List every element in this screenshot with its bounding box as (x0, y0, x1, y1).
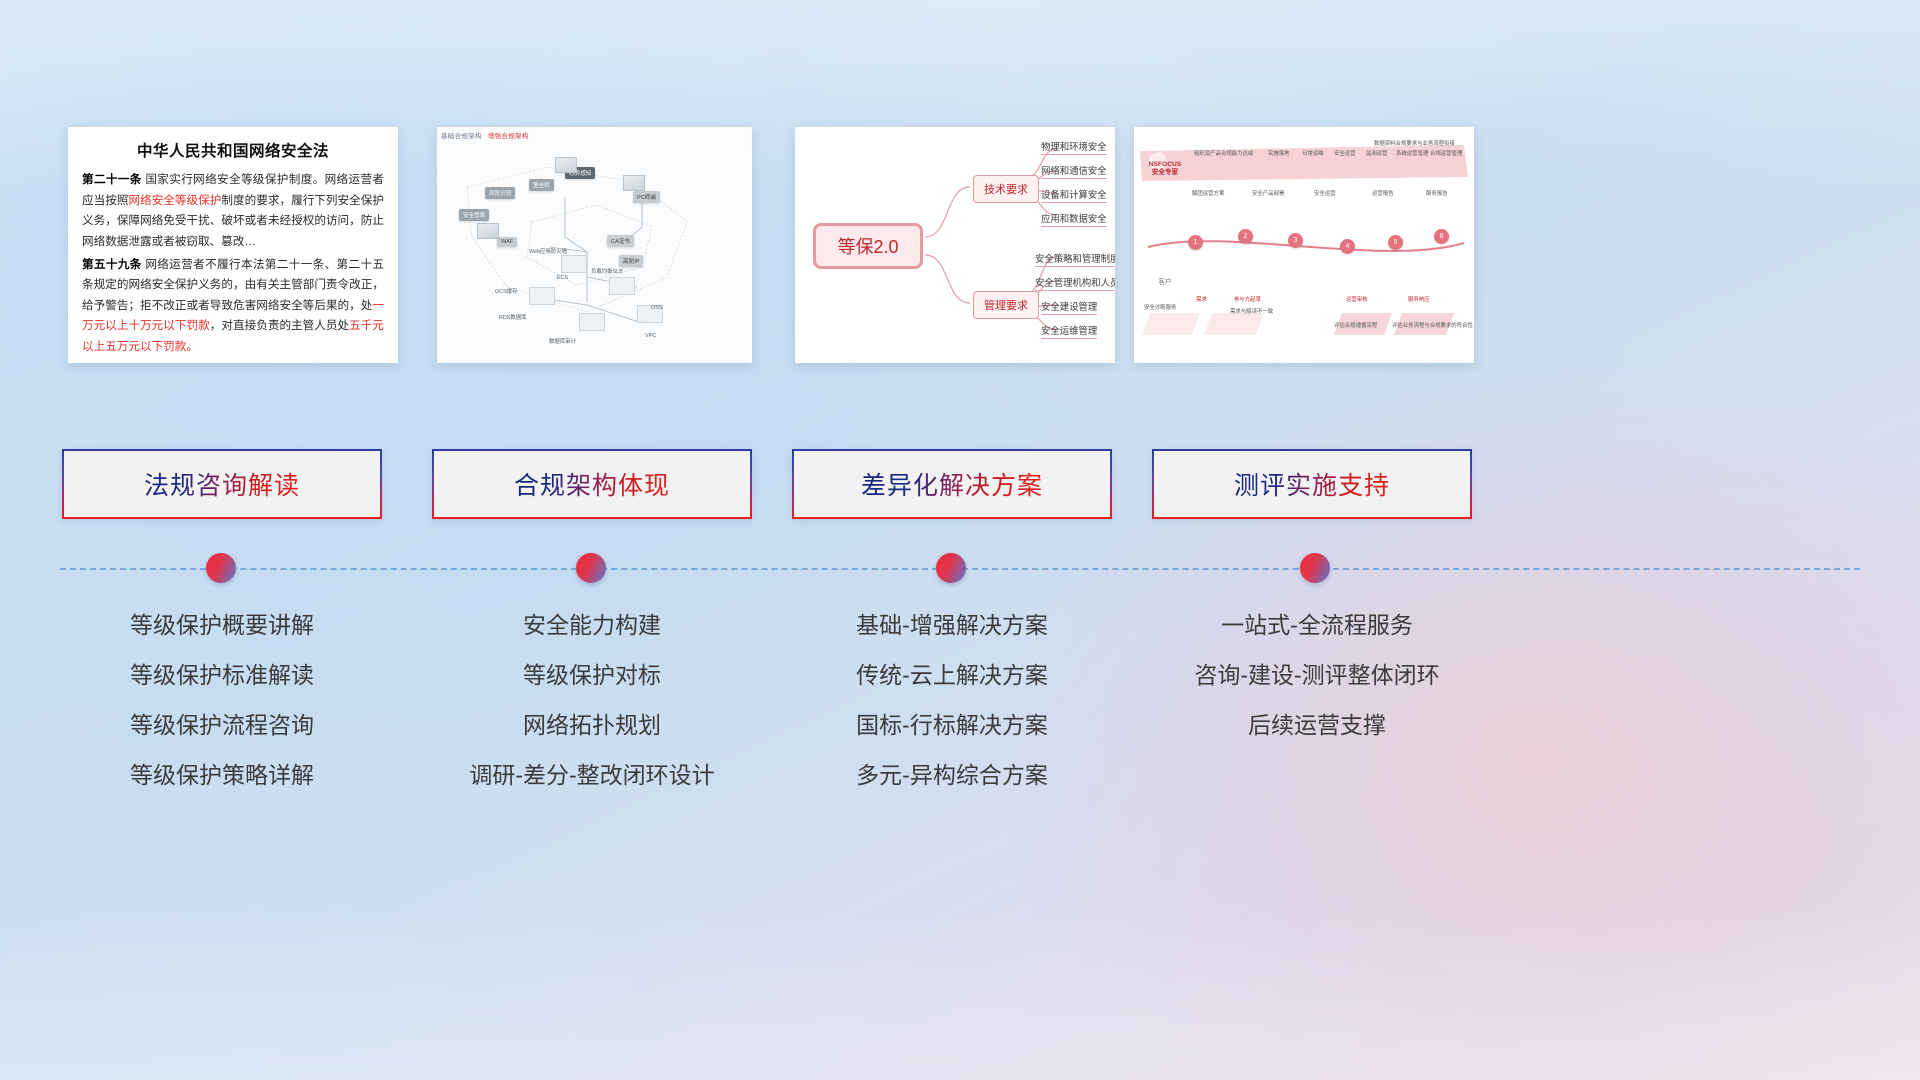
arch-icon-node-vpc (579, 313, 605, 331)
arch-icon-node-slb (609, 277, 635, 295)
list-item: 调研-差分-整改闭环设计 (432, 750, 752, 800)
timeline-dot-1[interactable] (206, 553, 236, 583)
mindmap-leaf-mgmt-3: 安全运维管理 (1041, 323, 1097, 339)
roadmap-bottom-tag-2: 参与方起草 (1234, 295, 1261, 303)
timeline-dot-4[interactable] (1300, 553, 1330, 583)
list-item: 国标-行标解决方案 (792, 700, 1112, 750)
roadmap-top-label-5: 系统运营管理 (1396, 149, 1428, 157)
list-item: 一站式-全流程服务 (1152, 600, 1482, 650)
law-document-body: 中华人民共和国网络安全法 第二十一条 国家实行网络安全等级保护制度。网络运营者应… (68, 127, 398, 363)
list-item: 咨询-建设-测评整体闭环 (1152, 650, 1482, 700)
mindmap-canvas: 等保2.0 技术要求 管理要求 物理和环境安全 网络和通信安全 设备和计算安全 … (795, 127, 1115, 363)
roadmap-bottom-tag-5: 评估合规遵循流程 (1334, 321, 1377, 329)
mindmap-leaf-tech-1: 网络和通信安全 (1041, 163, 1107, 179)
detail-list-2: 安全能力构建 等级保护对标 网络拓扑规划 调研-差分-整改闭环设计 (432, 600, 752, 800)
mindmap-branch-management: 管理要求 (973, 291, 1039, 319)
arch-label-ecs: ECS (557, 275, 568, 281)
category-button-label-4: 测评实施支持 (1234, 466, 1390, 502)
mindmap-leaf-mgmt-1: 安全管理机构和人员 (1035, 275, 1115, 291)
list-item: 等级保护策略详解 (62, 750, 382, 800)
mindmap-leaf-tech-2: 设备和计算安全 (1041, 187, 1107, 203)
law-title: 中华人民共和国网络安全法 (82, 139, 384, 161)
roadmap-persona-customer: 客户 (1142, 279, 1188, 287)
list-item: 等级保护概要讲解 (62, 600, 382, 650)
roadmap-top-label-2: 日常运维 (1302, 149, 1324, 157)
arch-node-risk-identification: 风险识别 (485, 187, 515, 199)
category-button-label-1: 法规咨询解读 (144, 466, 300, 502)
list-item: 网络拓扑规划 (432, 700, 752, 750)
law-paragraph-59: 第五十九条 网络运营者不履行本法第二十一条、第二十五条规定的网络安全保护义务的，… (82, 255, 384, 358)
list-item: 等级保护对标 (432, 650, 752, 700)
preview-cards-row: 中华人民共和国网络安全法 第二十一条 国家实行网络安全等级保护制度。网络运营者应… (0, 127, 1920, 367)
timeline-dot-3[interactable] (936, 553, 966, 583)
arch-label-vpc: VPC (645, 333, 656, 339)
card-law-document[interactable]: 中华人民共和国网络安全法 第二十一条 国家实行网络安全等级保护制度。网络运营者应… (68, 127, 398, 363)
roadmap-brand-name: NSFOCUS (1149, 161, 1181, 168)
arch-label-ocs: OCS缓存 (495, 287, 517, 295)
detail-list-1: 等级保护概要讲解 等级保护标准解读 等级保护流程咨询 等级保护策略详解 (62, 600, 382, 800)
roadmap-brand: NSFOCUS 安全专家 (1142, 161, 1188, 177)
mindmap-root-node: 等保2.0 (813, 223, 923, 269)
arch-node-security-butler: 安全管家 (459, 209, 489, 221)
roadmap-bottom-tag-7: 评估业务流程与合规要求的符合性 (1392, 321, 1473, 329)
category-button-differentiated-solution[interactable]: 差异化解决方案 (792, 449, 1112, 519)
law-highlight-21: 网络安全等级保护 (128, 194, 221, 207)
roadmap-top-label-3: 安全运营 (1334, 149, 1356, 157)
arch-icon-node-ecs (561, 255, 587, 273)
roadmap-stage-1: 安全产品部署 (1252, 189, 1284, 197)
arch-label-waf-full: Web应用防火墙 (529, 247, 567, 255)
law-article-number-21: 第二十一条 (82, 173, 142, 186)
mindmap-leaf-mgmt-2: 安全建设管理 (1041, 299, 1097, 315)
arch-label-db-audit: 数据库审计 (549, 337, 576, 345)
roadmap-brand-sub: 安全专家 (1152, 169, 1178, 176)
mindmap-leaf-tech-3: 应用和数据安全 (1041, 211, 1107, 227)
arch-node-pc-terminal: PC终端 (633, 191, 660, 203)
roadmap-step-4: 4 (1340, 239, 1355, 254)
roadmap-bottom-tag-4: 运营审核 (1346, 295, 1368, 303)
roadmap-step-6: 6 (1434, 229, 1449, 244)
arch-node-waf: WAF (497, 237, 517, 247)
arch-node-ca-cert: CA证书 (607, 235, 634, 247)
list-item: 多元-异构综合方案 (792, 750, 1112, 800)
arch-icon-server-3 (477, 223, 499, 239)
roadmap-top-label-0: 组织及产品合规能力达成 (1194, 149, 1253, 157)
arch-icon-server-1 (555, 157, 577, 173)
arch-icon-node-rds (529, 287, 555, 305)
detail-list-4: 一站式-全流程服务 咨询-建设-测评整体闭环 后续运营支撑 (1152, 600, 1482, 750)
architecture-canvas: 基础合规架构增强合规架构 (437, 127, 752, 363)
roadmap-stage-2: 安全运营 (1314, 189, 1336, 197)
mindmap-leaf-mgmt-0: 安全策略和管理制度 (1035, 251, 1115, 267)
list-item: 传统-云上解决方案 (792, 650, 1112, 700)
detail-list-3: 基础-增强解决方案 传统-云上解决方案 国标-行标解决方案 多元-异构综合方案 (792, 600, 1112, 800)
list-item: 等级保护流程咨询 (62, 700, 382, 750)
roadmap-bottom-tag-0: 需求 (1196, 295, 1207, 303)
roadmap-top-label-7: 数据资料合规要求与业务流程衔接 (1374, 139, 1455, 147)
roadmap-stage-0: 解团运营方案 (1192, 189, 1224, 197)
roadmap-step-5: 5 (1388, 235, 1403, 250)
category-button-compliance-architecture[interactable]: 合规架构体现 (432, 449, 752, 519)
roadmap-bottom-tag-6: 服务响应 (1408, 295, 1430, 303)
roadmap-step-1: 1 (1188, 235, 1203, 250)
roadmap-top-label-6: 合规运营管理 (1430, 149, 1462, 157)
category-button-label-2: 合规架构体现 (514, 466, 670, 502)
roadmap-stage-3: 运营报告 (1372, 189, 1394, 197)
roadmap-top-label-1: 实施落地 (1268, 149, 1290, 157)
category-button-assessment-support[interactable]: 测评实施支持 (1152, 449, 1472, 519)
arch-label-oss: OSS (651, 305, 662, 311)
arch-node-bastion-host: 堡垒机 (529, 179, 554, 191)
roadmap-step-3: 3 (1288, 233, 1303, 248)
roadmap-bottom-tag-3: 需求与解读不一致 (1230, 307, 1273, 315)
arch-label-slb: 负载均衡SLB (591, 267, 623, 275)
card-mindmap[interactable]: 等保2.0 技术要求 管理要求 物理和环境安全 网络和通信安全 设备和计算安全 … (795, 127, 1115, 363)
card-roadmap[interactable]: NSFOCUS 安全专家 组织及产品合规能力达成 实施落地 日常运维 安全运营 … (1134, 127, 1474, 363)
mindmap-leaf-tech-0: 物理和环境安全 (1041, 139, 1107, 155)
roadmap-step-2: 2 (1238, 229, 1253, 244)
roadmap-bottom-tag-1: 安全诊断服务 (1144, 303, 1176, 311)
arch-node-anti-ddos: 高防IP (619, 255, 643, 267)
law-article-number-59: 第五十九条 (82, 258, 142, 271)
roadmap-top-label-4: 监测运营 (1366, 149, 1388, 157)
category-button-regulation-consulting[interactable]: 法规咨询解读 (62, 449, 382, 519)
law-text-59b: ，对直接负责的主管人员处 (210, 319, 349, 332)
category-buttons-row: 法规咨询解读 合规架构体现 差异化解决方案 测评实施支持 (0, 449, 1920, 519)
detail-lists-row: 等级保护概要讲解 等级保护标准解读 等级保护流程咨询 等级保护策略详解 安全能力… (0, 600, 1920, 800)
list-item: 安全能力构建 (432, 600, 752, 650)
arch-icon-server-2 (623, 175, 645, 191)
list-item: 等级保护标准解读 (62, 650, 382, 700)
roadmap-stage-4: 服务报告 (1426, 189, 1448, 197)
list-item: 后续运营支撑 (1152, 700, 1482, 750)
roadmap-canvas: NSFOCUS 安全专家 组织及产品合规能力达成 实施落地 日常运维 安全运营 … (1134, 127, 1474, 363)
mindmap-branch-technical: 技术要求 (973, 175, 1039, 203)
infographic-page: 中华人民共和国网络安全法 第二十一条 国家实行网络安全等级保护制度。网络运营者应… (0, 0, 1920, 1080)
card-architecture-diagram[interactable]: 基础合规架构增强合规架构 (437, 127, 752, 363)
arch-label-rds: RDS数据库 (499, 313, 527, 321)
category-button-label-3: 差异化解决方案 (861, 466, 1043, 502)
law-paragraph-21: 第二十一条 国家实行网络安全等级保护制度。网络运营者应当按照网络安全等级保护制度… (82, 170, 384, 253)
list-item: 基础-增强解决方案 (792, 600, 1112, 650)
timeline-dot-2[interactable] (576, 553, 606, 583)
